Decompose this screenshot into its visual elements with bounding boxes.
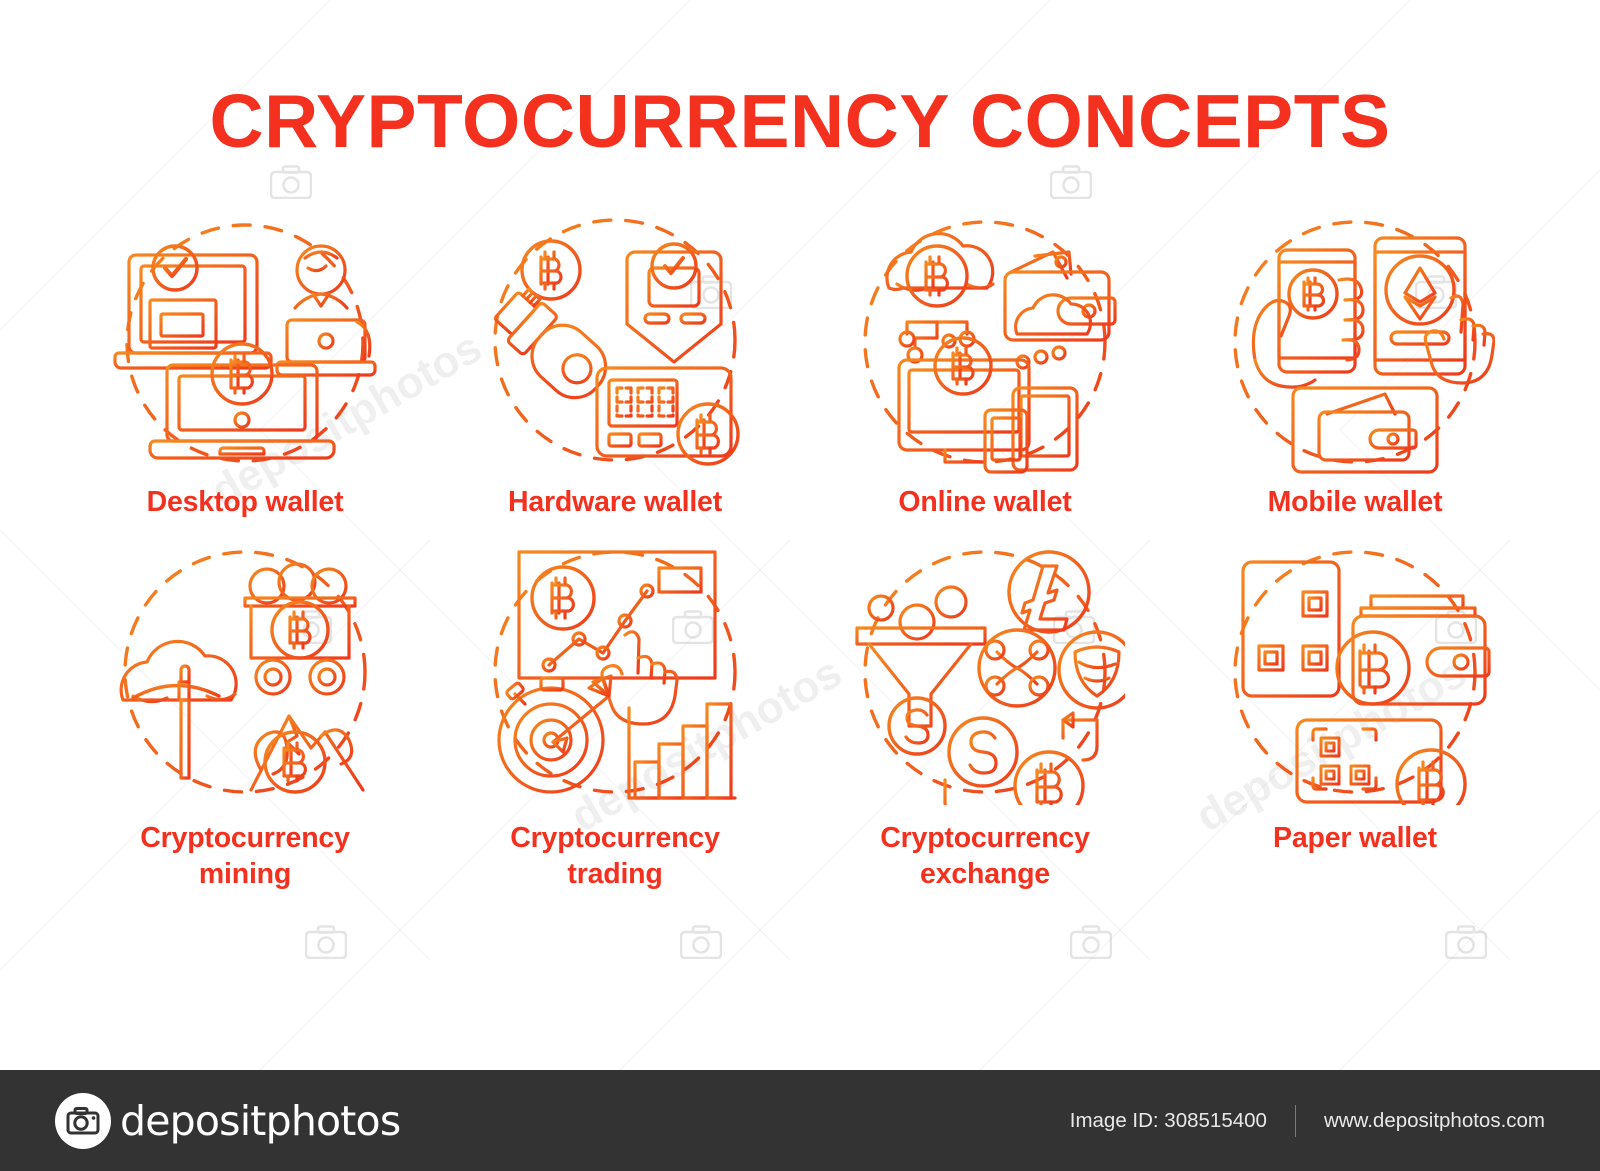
- concept-label: Mobile wallet: [1268, 485, 1443, 521]
- concept-label: Cryptocurrency mining: [140, 821, 349, 892]
- concept-card-paper-wallet[interactable]: Paper wallet: [1170, 540, 1540, 885]
- watermark-camera-icon: [1070, 925, 1112, 959]
- concept-card-hardware-wallet[interactable]: Hardware wallet: [430, 210, 800, 540]
- paper-wallet-icon: [1215, 540, 1495, 805]
- watermark-camera-icon: [270, 165, 312, 199]
- brand-wordmark: depositphotos: [120, 1097, 400, 1145]
- concept-label: Cryptocurrency trading: [510, 821, 719, 892]
- concept-card-cryptocurrency-exchange[interactable]: Cryptocurrency exchange: [800, 540, 1170, 885]
- hardware-wallet-icon: [475, 210, 755, 475]
- image-id-label: Image ID: 308515400: [1070, 1109, 1267, 1133]
- concept-label: Desktop wallet: [147, 485, 344, 521]
- poster-canvas: depositphotos depositphotos depositphoto…: [0, 0, 1600, 1171]
- camera-icon: [55, 1093, 111, 1149]
- footer-bar: depositphotos Image ID: 308515400 www.de…: [0, 1070, 1600, 1171]
- concept-card-mobile-wallet[interactable]: Mobile wallet: [1170, 210, 1540, 540]
- depositphotos-logo[interactable]: depositphotos: [55, 1093, 400, 1149]
- concept-card-online-wallet[interactable]: Online wallet: [800, 210, 1170, 540]
- cryptocurrency-exchange-icon: [845, 540, 1125, 805]
- footer-meta: Image ID: 308515400 www.depositphotos.co…: [1070, 1105, 1545, 1137]
- desktop-wallet-icon: [105, 210, 385, 475]
- concept-label: Cryptocurrency exchange: [880, 821, 1089, 892]
- watermark-camera-icon: [1445, 925, 1487, 959]
- cryptocurrency-trading-icon: [475, 540, 755, 805]
- concept-label: Online wallet: [898, 485, 1071, 521]
- concept-card-cryptocurrency-trading[interactable]: Cryptocurrency trading: [430, 540, 800, 885]
- page-title: CRYPTOCURRENCY CONCEPTS: [0, 84, 1600, 159]
- concept-card-desktop-wallet[interactable]: Desktop wallet: [60, 210, 430, 540]
- cryptocurrency-mining-icon: [105, 540, 385, 805]
- concept-grid: Desktop wallet: [60, 210, 1540, 885]
- footer-separator: [1295, 1105, 1296, 1137]
- concept-card-cryptocurrency-mining[interactable]: Cryptocurrency mining: [60, 540, 430, 885]
- mobile-wallet-icon: [1215, 210, 1495, 475]
- watermark-camera-icon: [1050, 165, 1092, 199]
- concept-label: Hardware wallet: [508, 485, 722, 521]
- concept-label: Paper wallet: [1273, 821, 1437, 857]
- watermark-camera-icon: [305, 925, 347, 959]
- online-wallet-icon: [845, 210, 1125, 475]
- website-link[interactable]: www.depositphotos.com: [1324, 1109, 1545, 1133]
- watermark-camera-icon: [680, 925, 722, 959]
